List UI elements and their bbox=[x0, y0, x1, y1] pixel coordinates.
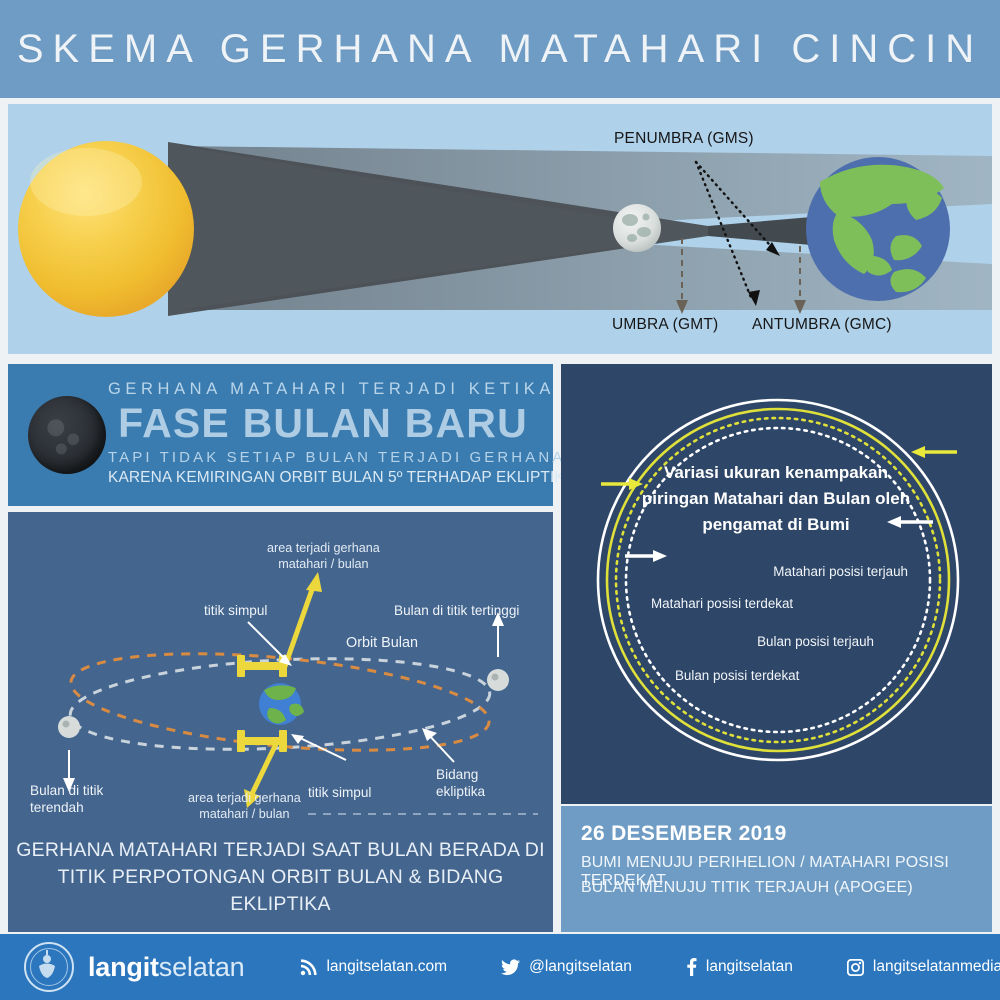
eclipse-area-arrow-top bbox=[284, 584, 314, 669]
website-link-text: langitselatan.com bbox=[326, 958, 447, 976]
orbit-caption-panel: GERHANA MATAHARI TERJADI SAAT BULAN BERA… bbox=[8, 822, 553, 932]
page-title: SKEMA GERHANA MATAHARI CINCIN bbox=[17, 27, 983, 72]
variation-title-line3: pengamat di Bumi bbox=[621, 512, 931, 538]
variation-title-line2: piringan Matahari dan Bulan oleh bbox=[621, 486, 931, 512]
arrow-sun-farthest bbox=[911, 446, 957, 458]
label-antumbra: ANTUMBRA (GMC) bbox=[752, 316, 892, 334]
page-footer: langitselatan langitselatan.com @langits… bbox=[0, 934, 1000, 1000]
label-eclipse-area-bottom-line2: matahari / bulan bbox=[188, 806, 301, 822]
earth-body bbox=[806, 157, 950, 301]
fase-line-4: KARENA KEMIRINGAN ORBIT BULAN 5º TERHADA… bbox=[108, 469, 538, 487]
label-ecliptic-plane: Bidang ekliptika bbox=[436, 766, 485, 800]
label-umbra: UMBRA (GMT) bbox=[612, 316, 718, 334]
label-ecliptic-plane-line2: ekliptika bbox=[436, 783, 485, 800]
new-moon-text-block: GERHANA MATAHARI TERJADI KETIKA FASE BUL… bbox=[108, 380, 538, 487]
new-moon-icon bbox=[28, 396, 106, 474]
label-sun-nearest: Matahari posisi terdekat bbox=[651, 596, 793, 611]
orbit-caption-line1: GERHANA MATAHARI TERJADI SAAT BULAN BERA… bbox=[8, 837, 553, 864]
moon-orbit-panel: area terjadi gerhana matahari / bulan ti… bbox=[8, 512, 553, 822]
variation-title-line1: Variasi ukuran kenampakan bbox=[621, 460, 931, 486]
node-marker-top bbox=[237, 655, 287, 677]
moon-highest-crater bbox=[492, 674, 499, 681]
label-node-top: titik simpul bbox=[204, 602, 267, 619]
label-moon-highest: Bulan di titik tertinggi bbox=[394, 602, 519, 619]
label-sun-farthest: Matahari posisi terjauh bbox=[773, 564, 908, 579]
orbit-caption-line2: TITIK PERPOTONGAN ORBIT BULAN & BIDANG E… bbox=[8, 864, 553, 918]
label-moon-lowest: Bulan di titik terendah bbox=[30, 782, 103, 816]
langitselatan-seal-logo bbox=[24, 942, 74, 992]
label-moon-lowest-line1: Bulan di titik bbox=[30, 782, 103, 799]
arrow-moon-nearest bbox=[625, 550, 667, 562]
date-detail-line2: BULAN MENUJU TITIK TERJAUH (APOGEE) bbox=[581, 879, 913, 897]
antumbra-cone bbox=[708, 216, 823, 246]
moon-highest-point bbox=[487, 669, 509, 691]
instagram-link[interactable]: langitselatanmedia bbox=[847, 958, 1000, 976]
website-link[interactable]: langitselatan.com bbox=[300, 958, 447, 976]
moon-lowest-point bbox=[58, 716, 80, 738]
orbit-caption-text: GERHANA MATAHARI TERJADI SAAT BULAN BERA… bbox=[8, 837, 553, 918]
facebook-icon bbox=[686, 958, 697, 976]
instagram-name-text: langitselatanmedia bbox=[873, 958, 1000, 976]
ring-moon-farthest bbox=[598, 400, 958, 760]
twitter-icon bbox=[501, 959, 520, 976]
label-node-bottom: titik simpul bbox=[308, 784, 371, 801]
brand-wordmark: langitselatan bbox=[88, 952, 244, 983]
apparent-size-svg bbox=[561, 364, 992, 804]
moon-body bbox=[613, 204, 661, 252]
new-moon-phase-panel: GERHANA MATAHARI TERJADI KETIKA FASE BUL… bbox=[8, 364, 553, 506]
eclipse-area-arrow-bottom bbox=[251, 744, 276, 796]
infographic-root: SKEMA GERHANA MATAHARI CINCIN bbox=[0, 0, 1000, 1000]
label-eclipse-area-bottom: area terjadi gerhana matahari / bulan bbox=[188, 790, 301, 822]
earth-icon bbox=[259, 683, 304, 725]
brand-wordmark-light: selatan bbox=[159, 952, 245, 982]
moon-lowest-crater bbox=[63, 721, 70, 728]
instagram-icon bbox=[847, 959, 864, 976]
label-penumbra: PENUMBRA (GMS) bbox=[614, 130, 754, 148]
label-moon-nearest: Bulan posisi terdekat bbox=[675, 668, 799, 683]
label-eclipse-area-top: area terjadi gerhana matahari / bulan bbox=[267, 540, 380, 572]
label-eclipse-area-top-line2: matahari / bulan bbox=[267, 556, 380, 572]
label-orbit-bulan: Orbit Bulan bbox=[346, 635, 418, 652]
apparent-size-variation-panel: Variasi ukuran kenampakan piringan Matah… bbox=[561, 364, 992, 804]
facebook-link[interactable]: langitselatan bbox=[686, 958, 793, 976]
brand-wordmark-bold: langit bbox=[88, 952, 159, 982]
label-moon-farthest: Bulan posisi terjauh bbox=[757, 634, 874, 649]
twitter-handle-text: @langitselatan bbox=[529, 958, 632, 976]
date-panel: 26 DESEMBER 2019 BUMI MENUJU PERIHELION … bbox=[561, 806, 992, 932]
label-ecliptic-plane-line1: Bidang bbox=[436, 766, 485, 783]
brand-lockup[interactable]: langitselatan bbox=[24, 942, 244, 992]
page-header: SKEMA GERHANA MATAHARI CINCIN bbox=[0, 0, 1000, 98]
eclipse-area-arrowhead-top bbox=[306, 572, 322, 592]
label-eclipse-area-bottom-line1: area terjadi gerhana bbox=[188, 790, 301, 806]
date-headline: 26 DESEMBER 2019 bbox=[581, 822, 787, 846]
eclipse-diagram: PENUMBRA (GMS) UMBRA (GMT) ANTUMBRA (GMC… bbox=[8, 104, 992, 354]
fase-line-1: GERHANA MATAHARI TERJADI KETIKA bbox=[108, 380, 538, 399]
label-eclipse-area-top-line1: area terjadi gerhana bbox=[267, 540, 380, 556]
twitter-link[interactable]: @langitselatan bbox=[501, 958, 632, 976]
facebook-name-text: langitselatan bbox=[706, 958, 793, 976]
fase-line-3: TAPI TIDAK SETIAP BULAN TERJADI GERHANA bbox=[108, 449, 538, 466]
label-moon-lowest-line2: terendah bbox=[30, 799, 103, 816]
variation-title: Variasi ukuran kenampakan piringan Matah… bbox=[621, 460, 931, 538]
rss-icon bbox=[300, 959, 317, 976]
sun-highlight bbox=[30, 148, 142, 216]
fase-headline: FASE BULAN BARU bbox=[108, 400, 538, 447]
